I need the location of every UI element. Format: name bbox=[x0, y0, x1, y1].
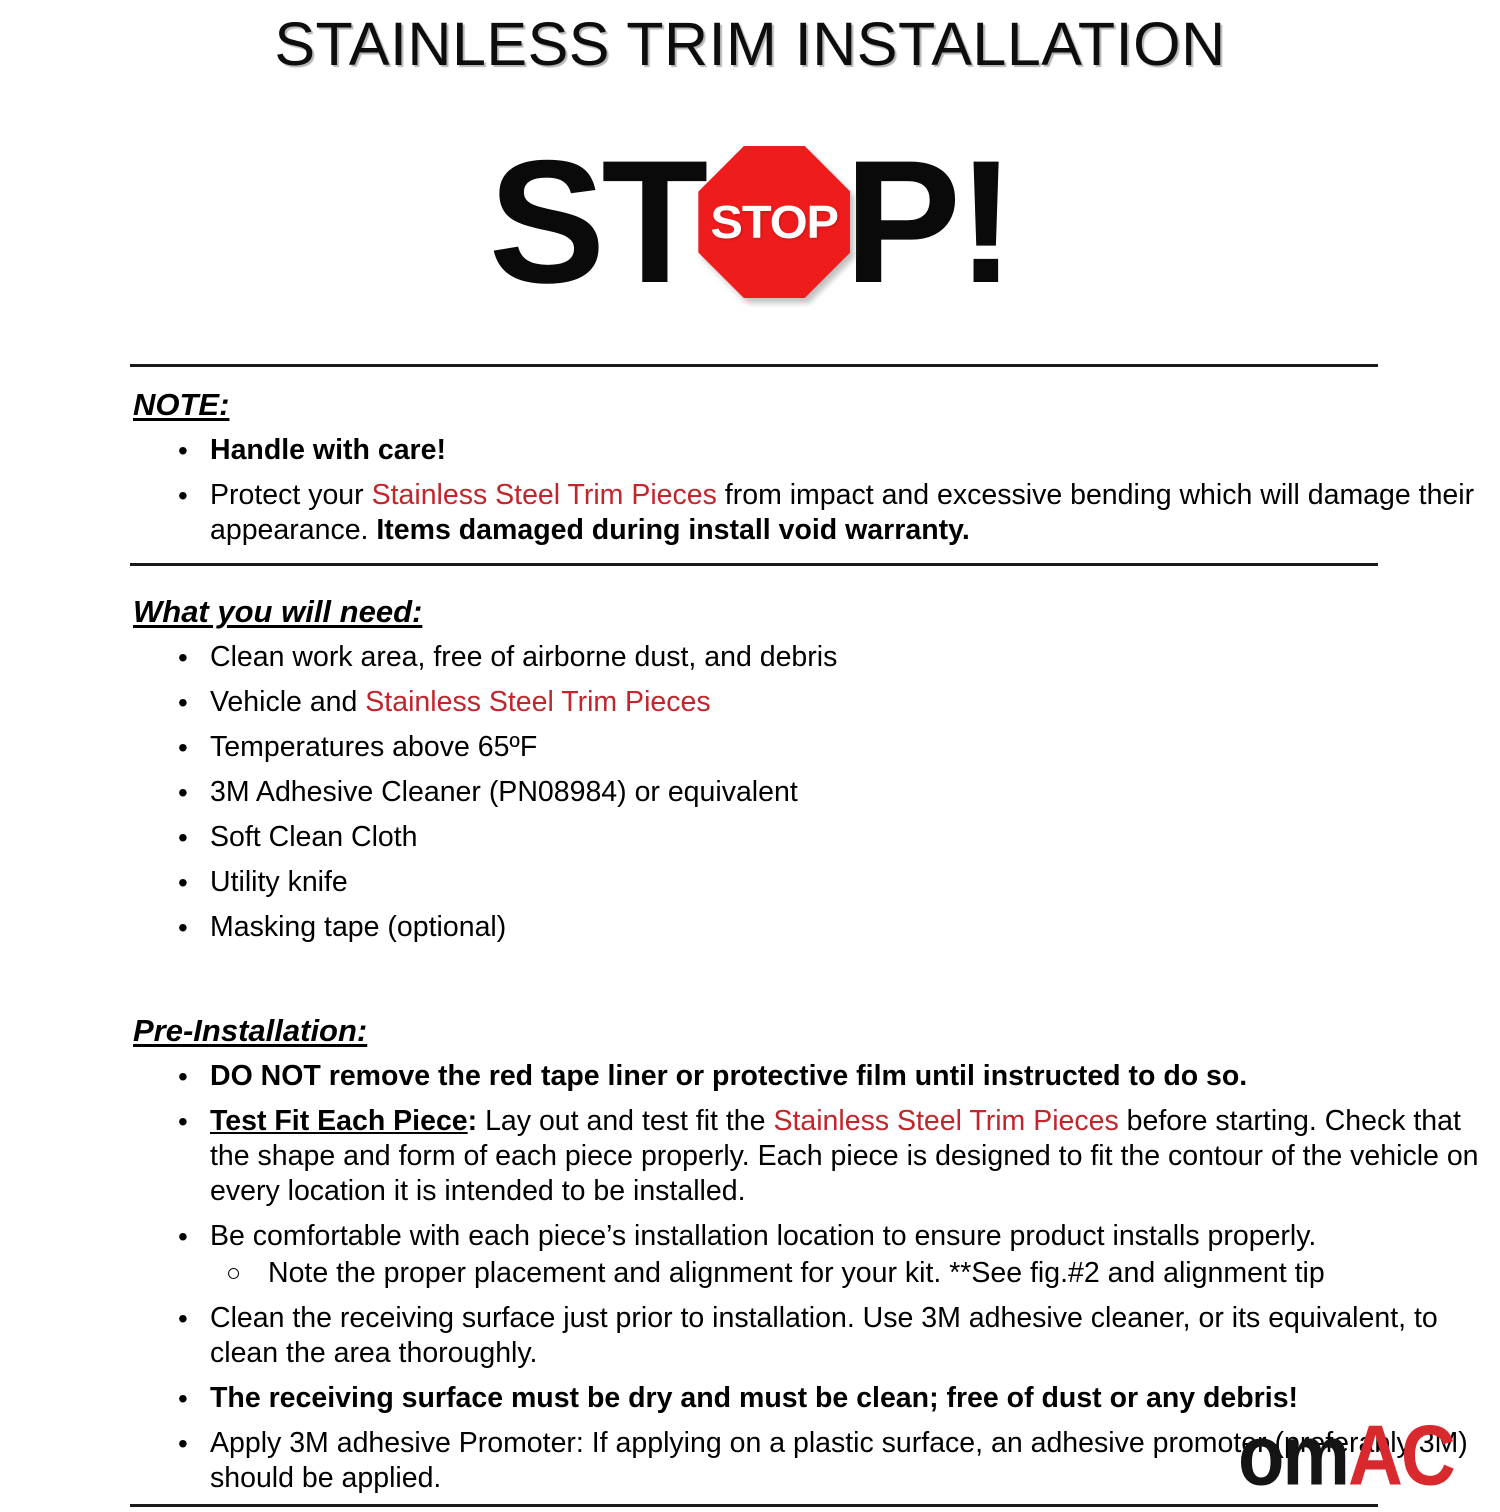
pre-bullet-4-text: Clean the receiving surface just prior t… bbox=[210, 1302, 1438, 1369]
bullet-marker: • bbox=[178, 1426, 188, 1461]
list-item: • 3M Adhesive Cleaner (PN08984) or equiv… bbox=[0, 775, 1500, 810]
bullet-marker: • bbox=[178, 730, 188, 765]
needs-item-5: Soft Clean Cloth bbox=[210, 821, 418, 853]
bullet-marker: • bbox=[178, 433, 188, 468]
list-item: • Clean work area, free of airborne dust… bbox=[0, 640, 1500, 675]
divider-bottom bbox=[130, 1504, 1378, 1507]
trim-pieces-highlight: Stainless Steel Trim Pieces bbox=[773, 1105, 1118, 1137]
bullet-marker: • bbox=[178, 775, 188, 810]
test-fit-colon: : bbox=[468, 1105, 478, 1137]
note-bullet-1-text: Handle with care! bbox=[210, 434, 446, 466]
note-bullet-list: • Handle with care! • Protect your Stain… bbox=[0, 433, 1500, 548]
pre-bullet-1-text: DO NOT remove the red tape liner or prot… bbox=[210, 1060, 1247, 1092]
bullet-marker: • bbox=[178, 478, 188, 513]
omac-logo-red-part: AC bbox=[1348, 1408, 1454, 1503]
stop-right-letters: P! bbox=[844, 135, 1011, 310]
list-item: • Test Fit Each Piece: Lay out and test … bbox=[0, 1104, 1500, 1209]
bullet-marker: • bbox=[178, 820, 188, 855]
list-item: • Soft Clean Cloth bbox=[0, 820, 1500, 855]
list-item: • Handle with care! bbox=[0, 433, 1500, 468]
omac-logo: omAC bbox=[1238, 1414, 1454, 1499]
bullet-marker: • bbox=[178, 865, 188, 900]
octagon-shape: STOP bbox=[698, 146, 850, 298]
sub-bullet-marker: ○ bbox=[226, 1256, 241, 1291]
omac-logo-dark-part: om bbox=[1238, 1408, 1348, 1503]
divider-mid bbox=[130, 563, 1378, 566]
list-item: • Masking tape (optional) bbox=[0, 910, 1500, 945]
test-fit-label: Test Fit Each Piece bbox=[210, 1105, 468, 1137]
needs-item-2: Vehicle and bbox=[210, 686, 365, 718]
installation-instructions-document: { "document": { "title": "STAINLESS TRIM… bbox=[0, 12, 1500, 1512]
trim-pieces-highlight: Stainless Steel Trim Pieces bbox=[365, 686, 710, 718]
stop-sign-icon: ST STOP P! bbox=[500, 132, 1000, 312]
needs-item-3: Temperatures above 65ºF bbox=[210, 731, 537, 763]
note-heading: NOTE: bbox=[133, 387, 1500, 423]
stop-graphic-container: ST STOP P! bbox=[0, 132, 1500, 312]
octagon-label: STOP bbox=[710, 199, 838, 245]
needs-item-7: Masking tape (optional) bbox=[210, 911, 506, 943]
needs-item-6: Utility knife bbox=[210, 866, 348, 898]
pre-bullet-5-text: The receiving surface must be dry and mu… bbox=[210, 1382, 1298, 1414]
needs-heading: What you will need: bbox=[133, 594, 1500, 630]
list-item: • Vehicle and Stainless Steel Trim Piece… bbox=[0, 685, 1500, 720]
bullet-marker: • bbox=[178, 1381, 188, 1416]
bullet-marker: • bbox=[178, 640, 188, 675]
divider-top bbox=[130, 364, 1378, 367]
needs-item-4: 3M Adhesive Cleaner (PN08984) or equival… bbox=[210, 776, 798, 808]
stop-left-letters: ST bbox=[489, 135, 705, 310]
bullet-marker: • bbox=[178, 1219, 188, 1254]
list-item: • Temperatures above 65ºF bbox=[0, 730, 1500, 765]
list-item: • Be comfortable with each piece’s insta… bbox=[0, 1219, 1500, 1291]
pre-bullet-3-text: Be comfortable with each piece’s install… bbox=[210, 1220, 1316, 1252]
bullet-marker: • bbox=[178, 1301, 188, 1336]
note-bullet-2-warning: Items damaged during install void warran… bbox=[376, 514, 969, 546]
list-item: • Clean the receiving surface just prior… bbox=[0, 1301, 1500, 1371]
list-item: • Utility knife bbox=[0, 865, 1500, 900]
pre-bullet-3-sub-text: Note the proper placement and alignment … bbox=[268, 1257, 1325, 1289]
page-title: STAINLESS TRIM INSTALLATION bbox=[0, 12, 1500, 76]
needs-item-1: Clean work area, free of airborne dust, … bbox=[210, 641, 837, 673]
list-item: • DO NOT remove the red tape liner or pr… bbox=[0, 1059, 1500, 1094]
pre-bullet-2-prefix: Lay out and test fit the bbox=[477, 1105, 773, 1137]
bullet-marker: • bbox=[178, 685, 188, 720]
trim-pieces-highlight: Stainless Steel Trim Pieces bbox=[372, 479, 717, 511]
needs-bullet-list: • Clean work area, free of airborne dust… bbox=[0, 640, 1500, 945]
list-item: ○ Note the proper placement and alignmen… bbox=[210, 1256, 1500, 1291]
pre-installation-heading: Pre-Installation: bbox=[133, 1013, 1500, 1049]
list-item: • Protect your Stainless Steel Trim Piec… bbox=[0, 478, 1500, 548]
stop-wordmark: ST STOP P! bbox=[489, 135, 1012, 310]
bullet-marker: • bbox=[178, 1059, 188, 1094]
pre-bullet-3-sublist: ○ Note the proper placement and alignmen… bbox=[210, 1256, 1500, 1291]
note-bullet-2-prefix: Protect your bbox=[210, 479, 372, 511]
bullet-marker: • bbox=[178, 1104, 188, 1139]
bullet-marker: • bbox=[178, 910, 188, 945]
